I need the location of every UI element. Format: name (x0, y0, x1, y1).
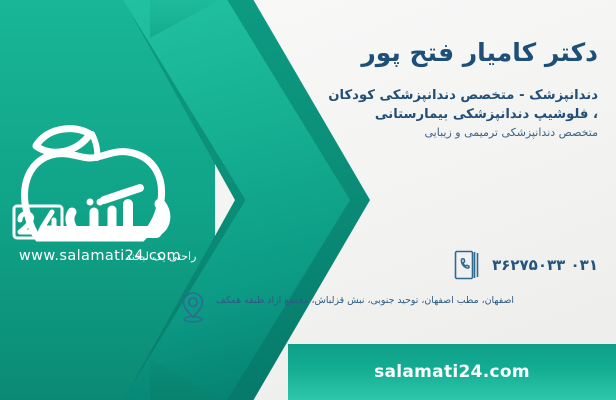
map-pin-icon (178, 290, 208, 324)
specialty-line-2: ، فلوشیپ دندانپزشکی بیمارستانی (178, 105, 598, 124)
phone-number[interactable]: ۳۶۲۷۵۰۳۳ ۰۳۱ (492, 256, 598, 274)
business-card: به راحتی یک لبخند www.salamati24.com دکت… (0, 0, 616, 400)
phone-row[interactable]: ۳۶۲۷۵۰۳۳ ۰۳۱ (452, 248, 598, 282)
logo-website-url: www.salamati24.com (10, 248, 190, 264)
leaf-icon (36, 129, 90, 153)
address-text[interactable]: اصفهان، مطب اصفهان، توحید جنوبی، نبش قزل… (216, 290, 514, 308)
specialties-block: دندانپزشک - متخصص دندانپزشکی کودکان ، فل… (178, 86, 598, 142)
address-row[interactable]: اصفهان، مطب اصفهان، توحید جنوبی، نبش قزل… (178, 290, 598, 324)
page-title: دکتر کامیار فتح پور (178, 38, 598, 67)
footer-website[interactable]: salamati24.com (374, 362, 530, 382)
specialty-line-1: دندانپزشک - متخصص دندانپزشکی کودکان (178, 86, 598, 105)
phone-book-icon (452, 248, 482, 282)
specialty-line-3: متخصص دندانپزشکی ترمیمی و زیبایی (178, 124, 598, 142)
footer-bar: salamati24.com (288, 344, 616, 400)
